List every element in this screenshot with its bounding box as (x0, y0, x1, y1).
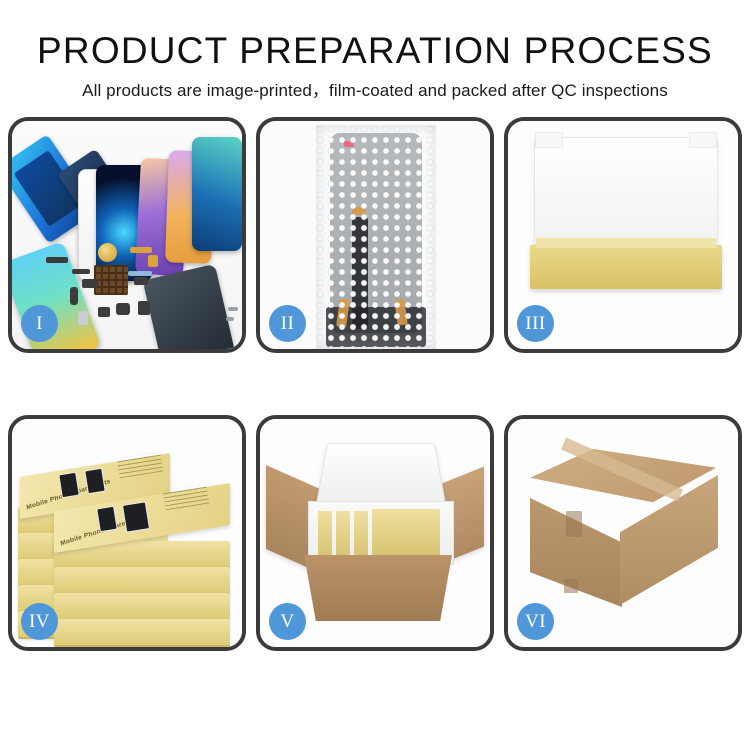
step-badge-1: I (21, 305, 58, 342)
process-step-panel-5: V (256, 415, 494, 651)
process-step-panel-3: III (504, 117, 742, 353)
process-step-panel-2: II (256, 117, 494, 353)
process-step-panel-4: Mobile Phone Spare Parts Mobile Phone Sp… (8, 415, 246, 651)
step-badge-2: II (269, 305, 306, 342)
product-preparation-infographic: PRODUCT PREPARATION PROCESS All products… (0, 0, 750, 750)
page-title: PRODUCT PREPARATION PROCESS (0, 30, 750, 72)
process-step-panel-6: VI (504, 415, 742, 651)
process-step-grid: I II III (5, 117, 745, 651)
step-badge-6: VI (517, 603, 554, 640)
step-badge-4: IV (21, 603, 58, 640)
header: PRODUCT PREPARATION PROCESS All products… (0, 0, 750, 103)
process-step-panel-1: I (8, 117, 246, 353)
step-badge-5: V (269, 603, 306, 640)
page-subtitle: All products are image-printed，film-coat… (0, 79, 750, 103)
step-badge-3: III (517, 305, 554, 342)
